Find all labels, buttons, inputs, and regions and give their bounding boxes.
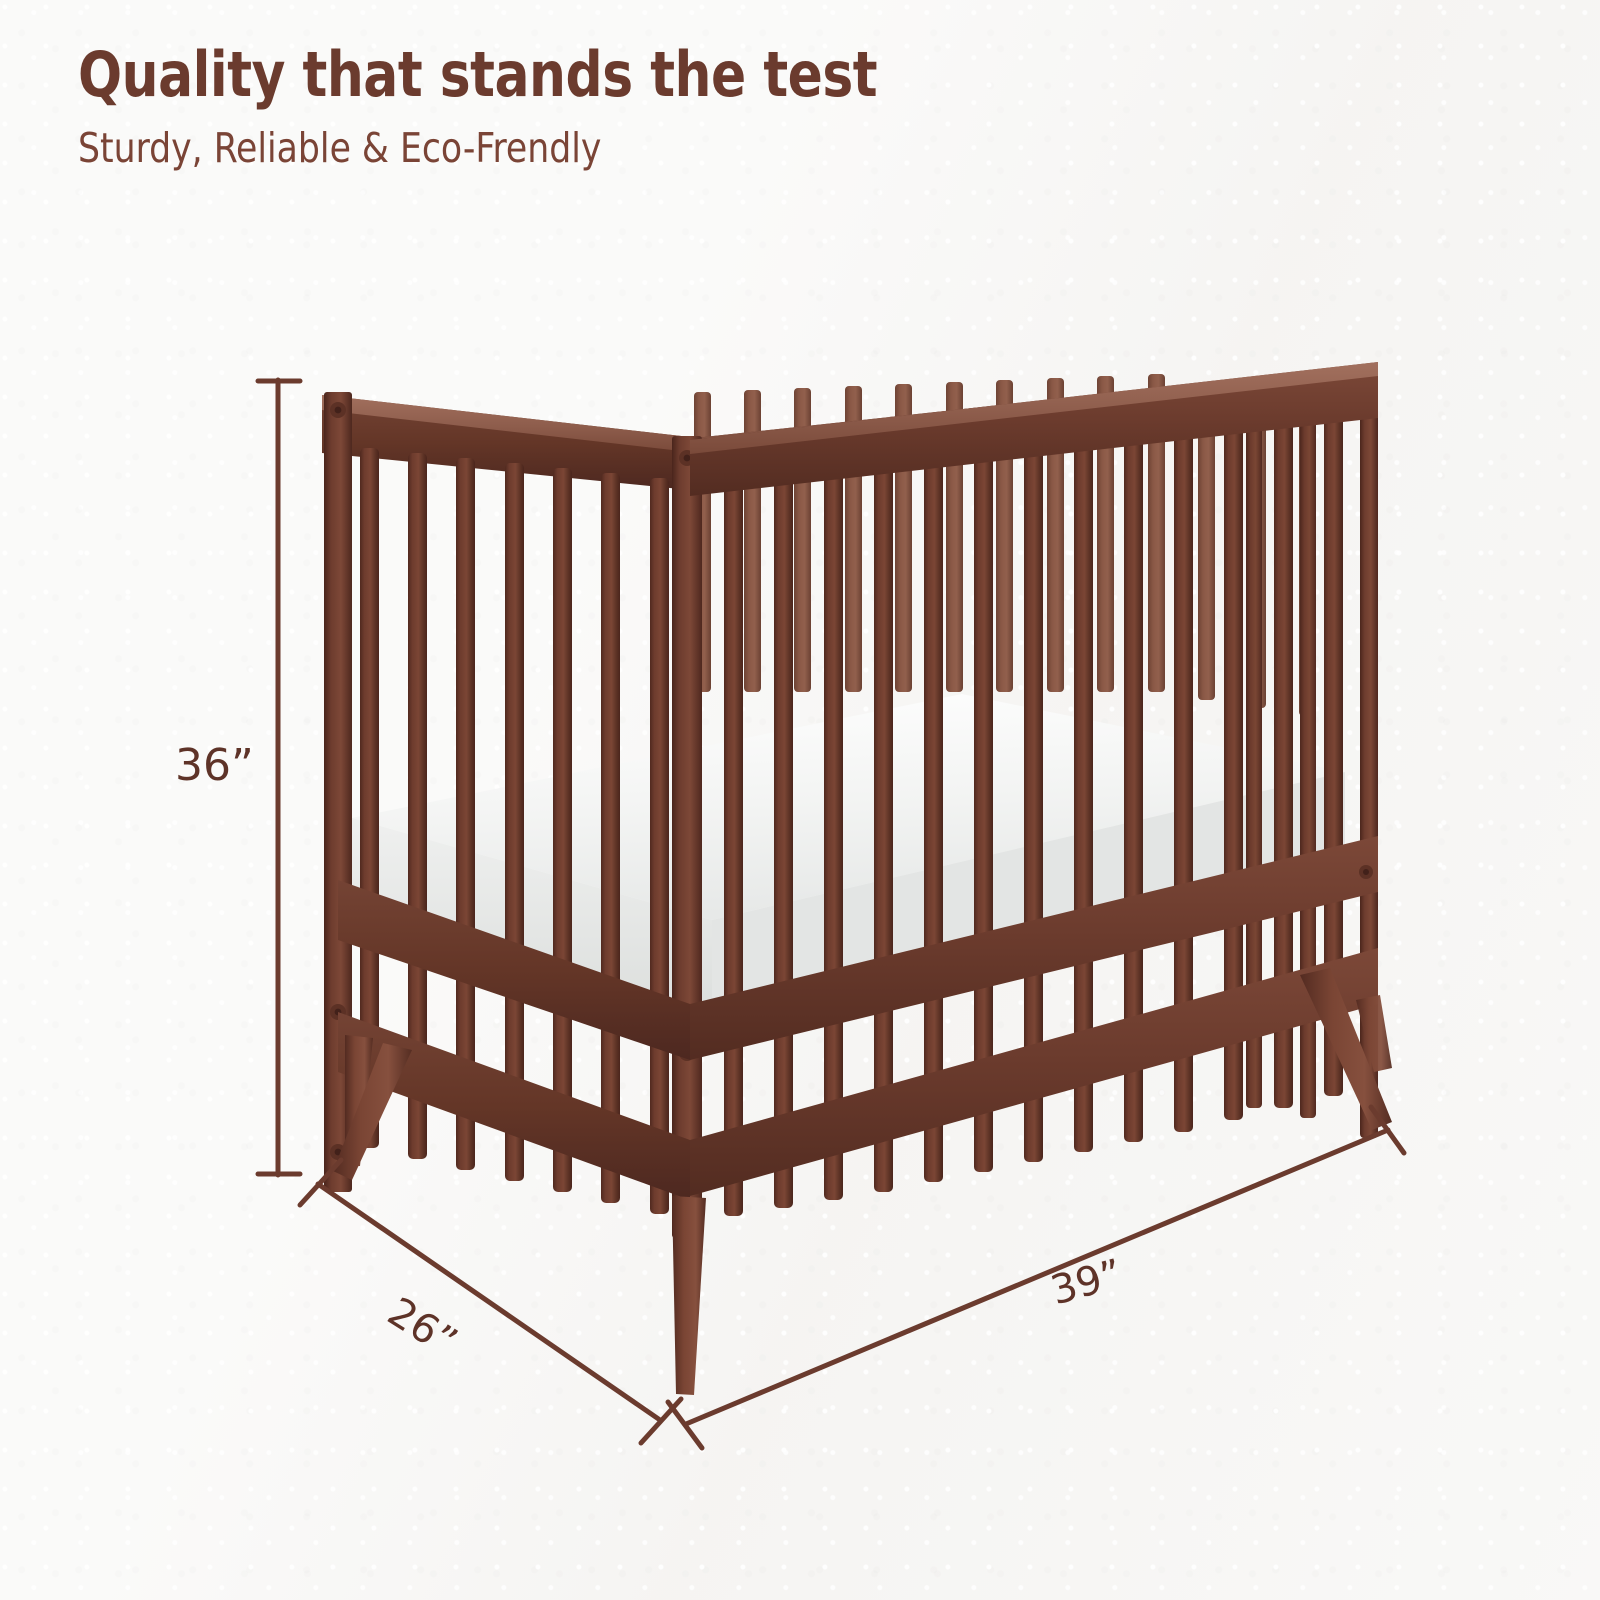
infographic-page: Quality that stands the test Sturdy, Rel… (0, 0, 1600, 1600)
dimension-height (258, 380, 300, 1175)
dimension-label-height: 36” (175, 740, 254, 791)
product-illustration (0, 0, 1600, 1600)
dimension-depth (300, 1160, 681, 1443)
